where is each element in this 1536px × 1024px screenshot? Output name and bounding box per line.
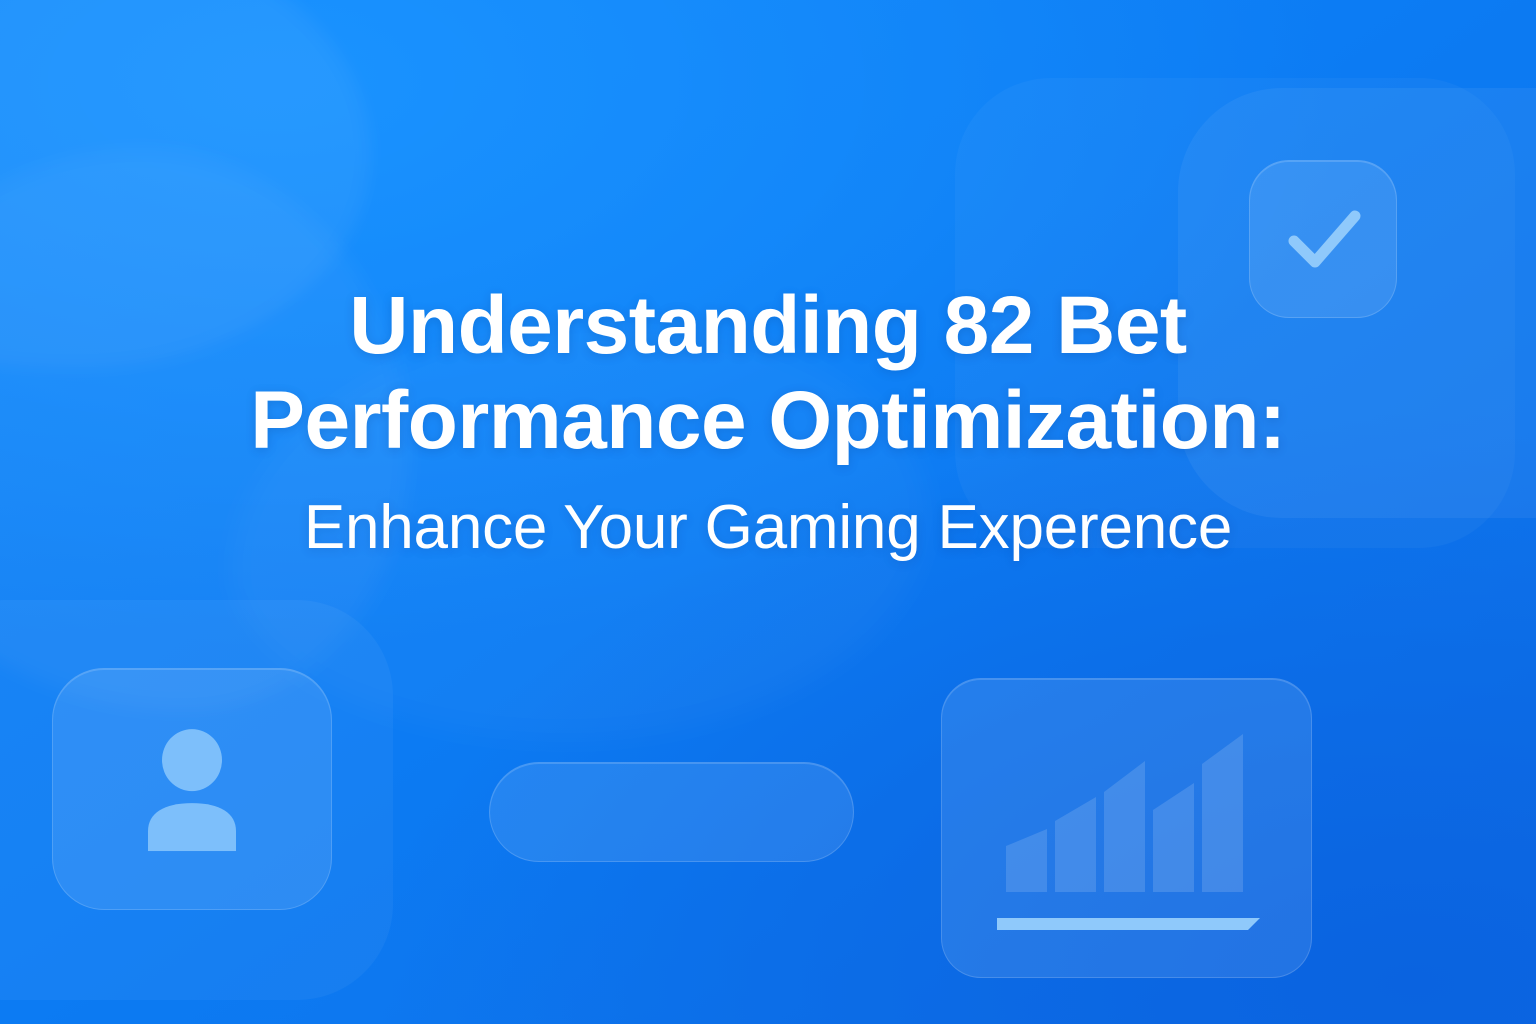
avatar-card	[52, 668, 332, 910]
person-icon	[134, 727, 250, 856]
page-title-line-2: Performance Optimization:	[60, 373, 1476, 468]
pill-shape	[489, 762, 854, 862]
page-title-line-1: Understanding 82 Bet	[60, 278, 1476, 373]
hero-banner: Understanding 82 Bet Performance Optimiz…	[0, 0, 1536, 1024]
chart-card	[941, 678, 1312, 978]
headline-block: Understanding 82 Bet Performance Optimiz…	[0, 278, 1536, 566]
page-subtitle: Enhance Your Gaming Experence	[60, 490, 1476, 566]
